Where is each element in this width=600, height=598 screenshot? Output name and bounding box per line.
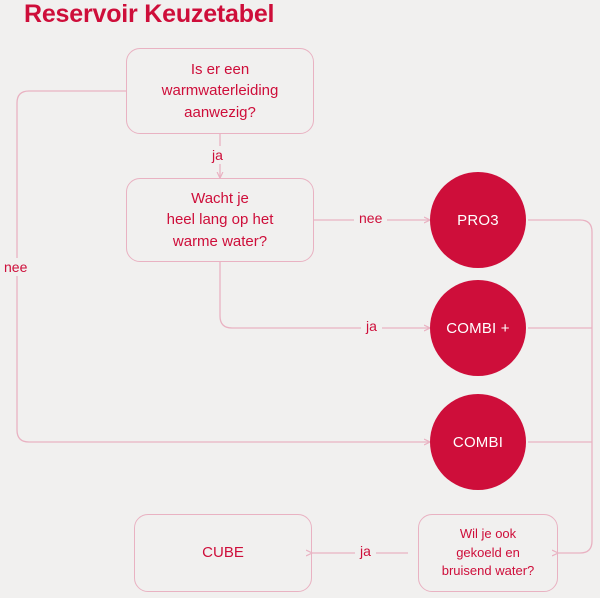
result-cube-label: CUBE	[202, 542, 244, 563]
edge-label-warmwater-nee: nee	[0, 258, 32, 276]
result-pro3-label: PRO3	[457, 212, 499, 229]
edge-label-warmwater-ja: ja	[207, 146, 228, 164]
question-wacht-lang[interactable]: Wacht je heel lang op het warme water?	[126, 178, 314, 262]
result-combi-label: COMBI	[453, 434, 503, 451]
result-pro3[interactable]: PRO3	[430, 172, 526, 268]
result-combi-plus-label: COMBI +	[446, 320, 510, 337]
result-cube[interactable]: CUBE	[134, 514, 312, 592]
edge-label-wacht-ja: ja	[361, 317, 382, 335]
question-wacht-lang-label: Wacht je heel lang op het warme water?	[167, 188, 274, 252]
edge-label-wacht-nee: nee	[354, 209, 387, 227]
question-warmwaterleiding[interactable]: Is er een warmwaterleiding aanwezig?	[126, 48, 314, 134]
question-gekoeld-bruisend-label: Wil je ook gekoeld en bruisend water?	[442, 525, 535, 580]
result-combi-plus[interactable]: COMBI +	[430, 280, 526, 376]
question-warmwaterleiding-label: Is er een warmwaterleiding aanwezig?	[162, 59, 279, 123]
edge-label-gekoeld-ja: ja	[355, 542, 376, 560]
flowchart-canvas: Reservoir Keuzetabel	[0, 0, 600, 598]
question-gekoeld-bruisend[interactable]: Wil je ook gekoeld en bruisend water?	[418, 514, 558, 592]
result-combi[interactable]: COMBI	[430, 394, 526, 490]
